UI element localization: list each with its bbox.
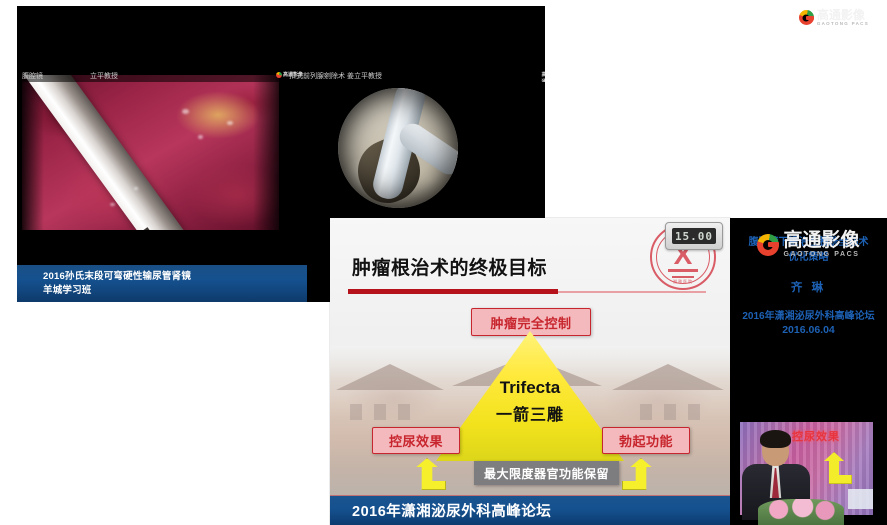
video-caption-mid: 立平教授 xyxy=(90,71,118,81)
brand-name-cn: 高通影像 xyxy=(783,231,859,250)
tissue-highlight xyxy=(134,187,138,190)
callout-erectile-function-label: 勃起功能 xyxy=(619,431,673,450)
callout-continence: 控尿效果 xyxy=(372,427,460,454)
callout-continence-label: 控尿效果 xyxy=(389,431,443,450)
brand-text: 高通影像 GAOTONG PACS xyxy=(783,231,859,258)
building-window xyxy=(398,404,410,420)
building-window xyxy=(688,404,700,420)
callout-erectile-function: 勃起功能 xyxy=(602,427,690,454)
video-lower-third-banner: 2016孙氏末段可弯硬性输尿管肾镜 羊城学习班 xyxy=(17,265,307,302)
title-rule-thin xyxy=(558,291,706,293)
timer-value: 15.00 xyxy=(675,230,713,243)
tissue-highlight xyxy=(198,135,203,139)
organ-preservation-text: 最大限度器官功能保留 xyxy=(484,465,609,482)
seal-bar xyxy=(672,276,694,278)
podium-flowers xyxy=(758,499,844,525)
building-window xyxy=(664,404,676,420)
brand-text: 高通影像 GAOTONG PACS xyxy=(817,9,869,27)
brand-logo-mini: 高通影像 xyxy=(538,71,545,82)
laparoscopic-surgery-video xyxy=(22,75,279,230)
callout-tumor-control-label: 肿瘤完全控制 xyxy=(490,313,571,332)
lower-third-line2: 羊城学习班 xyxy=(43,284,307,298)
screen-panel-edge xyxy=(848,489,873,509)
seal-bar xyxy=(668,269,698,272)
brand-name-en: GAOTONG PACS xyxy=(817,22,869,27)
lower-third-line1: 2016孙氏末段可弯硬性输尿管肾镜 xyxy=(43,270,307,284)
building-roof xyxy=(612,364,724,390)
speaker-hair xyxy=(760,430,791,448)
forum-name: 2016年潇湘泌尿外科高峰论坛 xyxy=(742,309,874,324)
slide-footer-banner: 2016年潇湘泌尿外科高峰论坛 xyxy=(330,496,730,525)
seal-arc-bottom: 湘雅医院 xyxy=(673,279,693,285)
slide-footer-text: 2016年潇湘泌尿外科高峰论坛 xyxy=(352,500,551,521)
video-caption-left: 腹腔镜 xyxy=(22,71,43,81)
gaotong-g-icon xyxy=(757,234,779,256)
building-roof xyxy=(336,364,444,390)
organ-preservation-label: 最大限度器官功能保留 xyxy=(474,461,619,485)
endoscope-vignette xyxy=(338,88,458,208)
brand-name-cn: 高通影像 xyxy=(817,9,869,21)
building-window xyxy=(374,404,386,420)
presentation-info-panel: 高通影像 GAOTONG PACS 腹腔镜下根治性膀胱全切术 优化策略 齐 琳 … xyxy=(730,218,887,412)
brand-logo-panel: 高通影像 GAOTONG PACS xyxy=(757,231,859,258)
tissue-highlight xyxy=(110,203,115,206)
slide-title: 肿瘤根治术的终极目标 xyxy=(352,253,547,280)
callout-tumor-control: 肿瘤完全控制 xyxy=(471,308,591,336)
talk-date: 2016.06.04 xyxy=(782,324,835,336)
gaotong-g-icon xyxy=(276,72,282,78)
brand-name-en: GAOTONG PACS xyxy=(783,251,859,258)
building-window xyxy=(640,404,652,420)
brand-logo-video: 高通影像 GAOTONG PACS xyxy=(799,9,869,27)
title-rule-thick xyxy=(348,289,558,294)
video-caption-right: 扣式前列腺剜除术 姜立平教授 xyxy=(289,71,382,81)
countdown-timer: 15.00 xyxy=(665,222,723,250)
speaker-name: 齐 琳 xyxy=(791,279,826,295)
gaotong-g-icon xyxy=(799,10,814,25)
projected-callout-label: 控尿效果 xyxy=(792,428,840,444)
timer-lcd: 15.00 xyxy=(672,228,716,244)
brand-name-cn: 高通影像 xyxy=(542,71,545,82)
surgical-instrument-shaft xyxy=(22,75,186,230)
tissue-highlight xyxy=(227,121,233,125)
presentation-slide: 肿瘤根治术的终极目标 XIANGYA X 湘雅医院 15.00 肿瘤完全控制 T… xyxy=(330,218,730,525)
tissue-highlight xyxy=(182,109,189,114)
building-window xyxy=(350,404,362,420)
video-caption-strip: 腹腔镜 立平教授 高通影像 扣式前列腺剜除术 姜立平教授 高通影像 xyxy=(17,70,545,82)
speaker-video-thumbnail: 控尿效果 xyxy=(730,412,887,525)
endoscopic-circular-video xyxy=(338,88,458,208)
video-vignette-right xyxy=(253,75,279,230)
